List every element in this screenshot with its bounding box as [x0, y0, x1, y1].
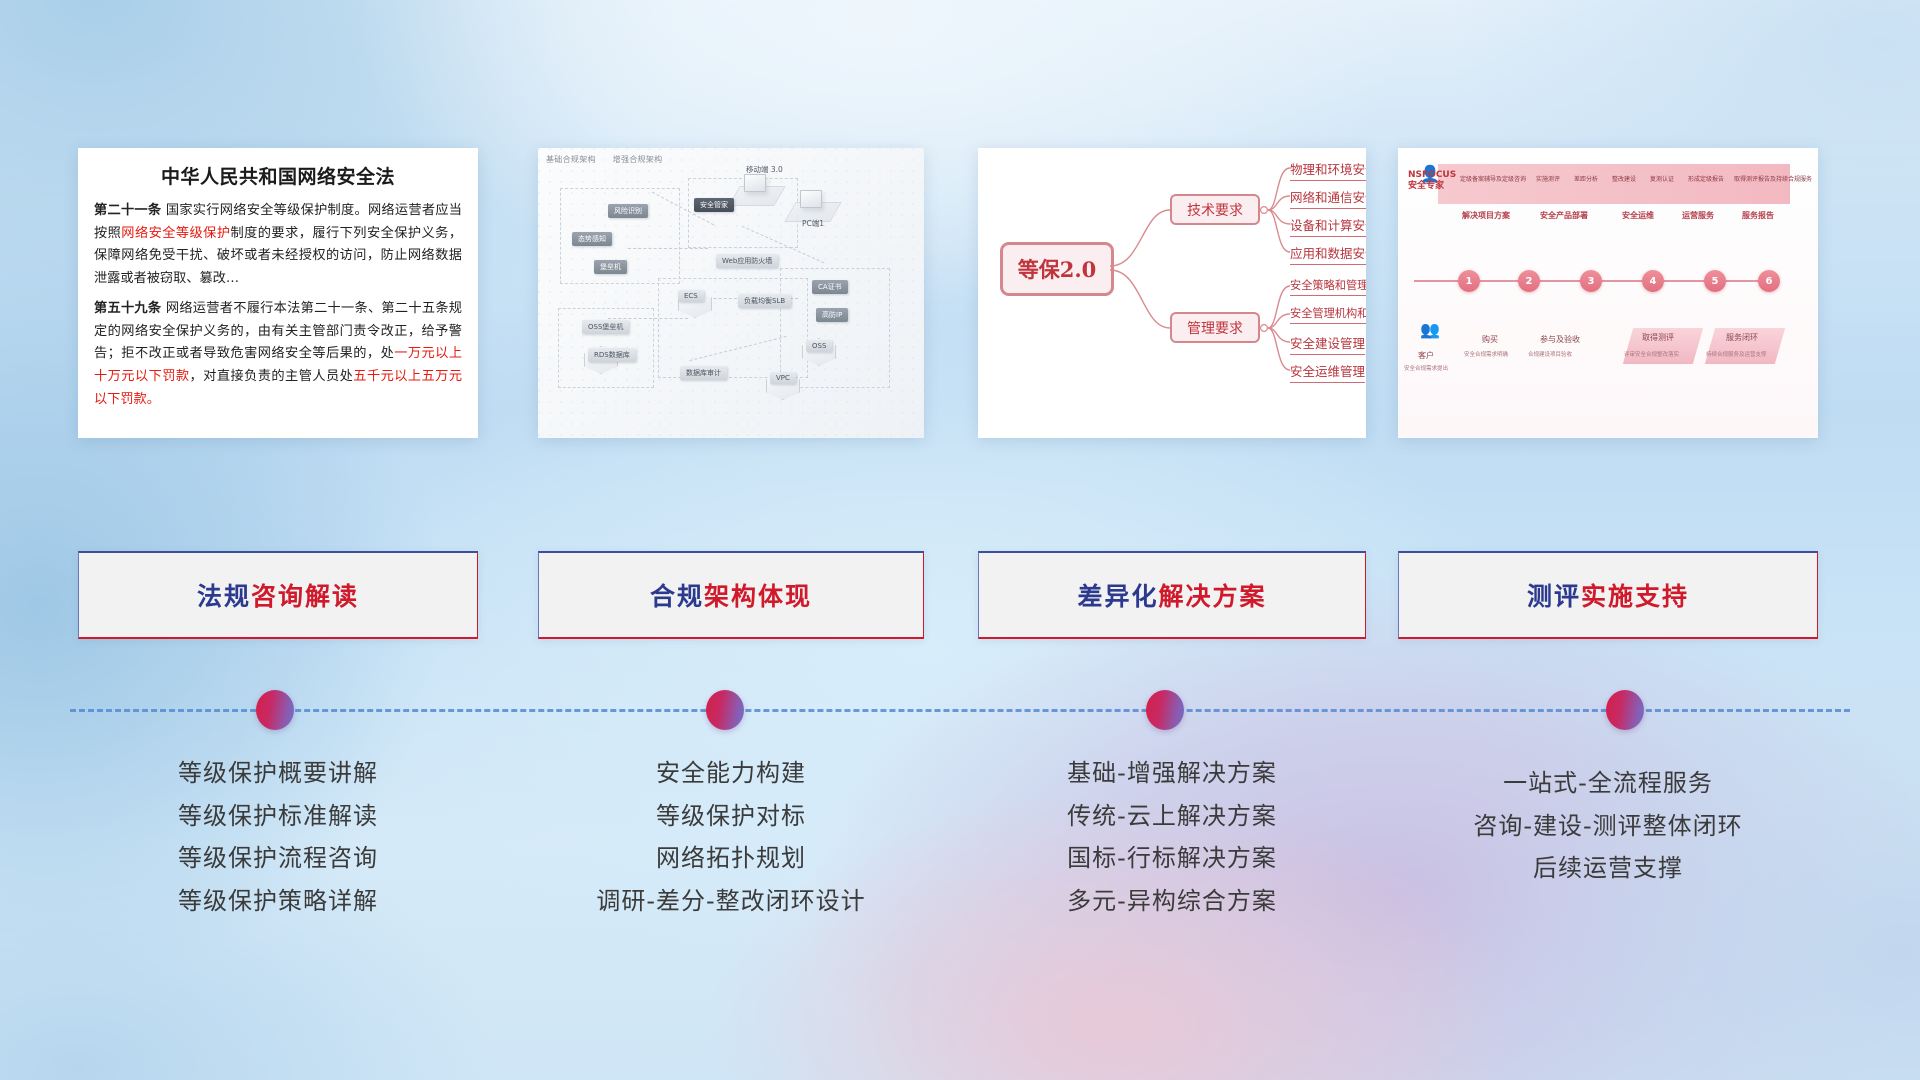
heading-3-red: 解决方案 — [1159, 577, 1267, 613]
article-21-highlight: 网络安全等级保护 — [121, 226, 230, 241]
mindmap-leaf-policy-system: 安全策略和管理制度 — [1290, 277, 1366, 296]
law-article-59: 第五十九条 网络运营者不履行本法第二十一条、第二十五条规定的网络安全保护义务的，… — [94, 298, 462, 412]
heading-box-assessment-support[interactable]: 测评实施支持 — [1398, 551, 1818, 639]
timeline-dot-4[interactable] — [1606, 690, 1644, 730]
timeline-dashed-line — [70, 709, 1850, 712]
phase-label-4: 服务报告 — [1742, 210, 1774, 221]
mindmap-leaf-construction-mgmt: 安全建设管理 — [1290, 333, 1365, 355]
law-article-21: 第二十一条 国家实行网络安全等级保护制度。网络运营者应当按照网络安全等级保护制度… — [94, 200, 462, 291]
service-item-lists: 等级保护概要讲解 等级保护标准解读 等级保护流程咨询 等级保护策略详解 安全能力… — [0, 752, 1920, 982]
list-item: 多元-异构综合方案 — [978, 880, 1366, 923]
arch-node-oss-bastion: OSS堡垒机 — [582, 320, 629, 334]
list-item: 咨询-建设-测评整体闭环 — [1398, 805, 1818, 848]
service-list-regulation: 等级保护概要讲解 等级保护标准解读 等级保护流程咨询 等级保护策略详解 — [78, 752, 478, 923]
arch-node-oss: OSS — [806, 340, 832, 352]
arch-node-anti-ddos: 高防IP — [816, 308, 848, 322]
list-item: 网络拓扑规划 — [538, 837, 924, 880]
step-number-4: 4 — [1642, 270, 1664, 292]
service-list-architecture: 安全能力构建 等级保护对标 网络拓扑规划 调研-差分-整改闭环设计 — [538, 752, 924, 923]
list-item: 国标-行标解决方案 — [978, 837, 1366, 880]
band-tag-6: 取得测评报告及持续合规服务 — [1734, 174, 1812, 183]
service-list-assessment: 一站式-全流程服务 咨询-建设-测评整体闭环 后续运营支撑 — [1398, 762, 1818, 890]
heading-box-differentiated-solution[interactable]: 差异化解决方案 — [978, 551, 1366, 639]
arch-node-slb: 负载均衡SLB — [738, 294, 791, 308]
band-tag-4: 复测认证 — [1650, 174, 1674, 183]
list-item: 一站式-全流程服务 — [1398, 762, 1818, 805]
timeline-dot-1[interactable] — [256, 690, 294, 730]
assessment-sublabel: 评审安全合规整改落实 — [1624, 350, 1679, 358]
arch-node-risk-identify: 风险识别 — [608, 204, 648, 218]
participate-sublabel: 合规建设项目验收 — [1528, 350, 1572, 358]
list-item: 调研-差分-整改闭环设计 — [538, 880, 924, 923]
arch-tag-basic: 基础合规架构 — [546, 155, 596, 164]
purchase-sublabel: 安全合规需求明确 — [1464, 350, 1508, 358]
list-item: 等级保护流程咨询 — [78, 837, 478, 880]
section-heading-row: 法规咨询解读 合规架构体现 差异化解决方案 测评实施支持 — [0, 551, 1920, 639]
phase-label-2: 安全运维 — [1622, 210, 1654, 221]
timeline — [0, 690, 1920, 730]
assessment-label: 取得测评 — [1642, 332, 1674, 343]
band-tag-3: 整改建设 — [1612, 174, 1636, 183]
arch-node-ca: CA证书 — [812, 280, 848, 294]
arch-node-situational-awareness: 态势感知 — [572, 232, 612, 246]
arch-label-pc: PC端1 — [802, 218, 824, 229]
nsfocus-top-band — [1438, 164, 1790, 204]
arch-tag-enhanced: 增强合规架构 — [613, 155, 663, 164]
purchase-label: 购买 — [1482, 334, 1498, 345]
mindmap-leaf-org-personnel: 安全管理机构和人员 — [1290, 305, 1366, 324]
law-title: 中华人民共和国网络安全法 — [94, 162, 462, 189]
band-tag-5: 形成定级报告 — [1688, 174, 1724, 183]
nsfocus-diagram: 👤 NSFOCUS 安全专家 定级备案辅导及定级咨询 实施测评 差距分析 整改建… — [1398, 148, 1818, 438]
list-item: 等级保护概要讲解 — [78, 752, 478, 795]
arch-node-bastion: 堡垒机 — [594, 260, 627, 274]
band-tag-1: 实施测评 — [1536, 174, 1560, 183]
arch-node-ecs: ECS — [678, 290, 704, 302]
article-21-label: 第二十一条 — [94, 203, 161, 218]
phase-label-0: 解决项目方案 — [1462, 210, 1510, 221]
mindmap: 等保2.0 技术要求 管理要求 — [978, 148, 1366, 438]
list-item: 等级保护标准解读 — [78, 795, 478, 838]
card-compliance-architecture[interactable]: 基础合规架构 增强合规架构 — [538, 148, 924, 438]
participate-label: 参与及验收 — [1540, 334, 1580, 345]
heading-1-red: 咨询解读 — [251, 577, 359, 613]
step-number-6: 6 — [1758, 270, 1780, 292]
arch-label-mobile: 移动端 3.0 — [746, 164, 783, 175]
nsfocus-logo-line1: NSFOCUS — [1408, 170, 1456, 181]
card-cybersecurity-law[interactable]: 中华人民共和国网络安全法 第二十一条 国家实行网络安全等级保护制度。网络运营者应… — [78, 148, 478, 438]
step-number-2: 2 — [1518, 270, 1540, 292]
phase-label-1: 安全产品部署 — [1540, 210, 1588, 221]
band-tag-0: 定级备案辅导及定级咨询 — [1460, 174, 1526, 183]
card-nsfocus-process[interactable]: 👤 NSFOCUS 安全专家 定级备案辅导及定级咨询 实施测评 差距分析 整改建… — [1398, 148, 1818, 438]
heading-box-regulation-consulting[interactable]: 法规咨询解读 — [78, 551, 478, 639]
nsfocus-logo: NSFOCUS 安全专家 — [1408, 170, 1456, 193]
heading-box-compliance-architecture[interactable]: 合规架构体现 — [538, 551, 924, 639]
heading-1-blue: 法规 — [197, 577, 251, 613]
arch-node-security-manager: 安全管家 — [694, 198, 734, 212]
article-59-text-b: ，对直接负责的主管人员处 — [190, 369, 354, 384]
timeline-dot-2[interactable] — [706, 690, 744, 730]
mindmap-root-node: 等保2.0 — [1000, 242, 1114, 296]
step-number-1: 1 — [1458, 270, 1480, 292]
mindmap-leaf-device-compute: 设备和计算安全 — [1290, 215, 1366, 237]
card-mindmap-dengbao[interactable]: 等保2.0 技术要求 管理要求 — [978, 148, 1366, 438]
list-item: 基础-增强解决方案 — [978, 752, 1366, 795]
architecture-header-tags: 基础合规架构 增强合规架构 — [546, 154, 676, 165]
article-59-label: 第五十九条 — [94, 301, 161, 316]
nsfocus-logo-line2: 安全专家 — [1408, 181, 1456, 192]
heading-2-blue: 合规 — [650, 577, 704, 613]
mindmap-leaf-network-comm: 网络和通信安全 — [1290, 187, 1366, 209]
heading-4-blue: 测评 — [1527, 577, 1581, 613]
list-item: 安全能力构建 — [538, 752, 924, 795]
arch-node-vpc: VPC — [770, 372, 796, 384]
mindmap-branch-management: 管理要求 — [1170, 312, 1260, 343]
mindmap-leaf-ops-mgmt: 安全运维管理 — [1290, 361, 1365, 383]
step-number-5: 5 — [1704, 270, 1726, 292]
service-list-solution: 基础-增强解决方案 传统-云上解决方案 国标-行标解决方案 多元-异构综合方案 — [978, 752, 1366, 923]
heading-4-red: 实施支持 — [1581, 577, 1689, 613]
customer-label: 客户 — [1418, 350, 1434, 361]
mindmap-branch-technical: 技术要求 — [1170, 194, 1260, 225]
list-item: 等级保护对标 — [538, 795, 924, 838]
list-item: 等级保护策略详解 — [78, 880, 478, 923]
customer-sublabel: 安全合规需求提出 — [1404, 364, 1448, 372]
mindmap-leaf-physical-env: 物理和环境安全 — [1290, 159, 1366, 181]
list-item: 后续运营支撑 — [1398, 847, 1818, 890]
heading-3-blue: 差异化 — [1077, 577, 1158, 613]
phase-label-3: 运营服务 — [1682, 210, 1714, 221]
screenshot-card-row: 中华人民共和国网络安全法 第二十一条 国家实行网络安全等级保护制度。网络运营者应… — [0, 148, 1920, 438]
step-number-3: 3 — [1580, 270, 1602, 292]
heading-2-red: 架构体现 — [704, 577, 812, 613]
timeline-dot-3[interactable] — [1146, 690, 1184, 730]
mindmap-leaf-app-data: 应用和数据安全 — [1290, 243, 1366, 265]
band-tag-2: 差距分析 — [1574, 174, 1598, 183]
list-item: 传统-云上解决方案 — [978, 795, 1366, 838]
arch-node-waf: Web应用防火墙 — [716, 254, 778, 268]
architecture-diagram: 基础合规架构 增强合规架构 — [538, 148, 924, 438]
customer-person-icon: 👥 — [1420, 320, 1440, 339]
arch-node-rds: RDS数据库 — [588, 348, 636, 362]
closure-sublabel: 持续合规服务及运营支撑 — [1706, 350, 1767, 358]
arch-node-db-audit: 数据库审计 — [680, 366, 727, 380]
closure-label: 服务闭环 — [1726, 332, 1758, 343]
